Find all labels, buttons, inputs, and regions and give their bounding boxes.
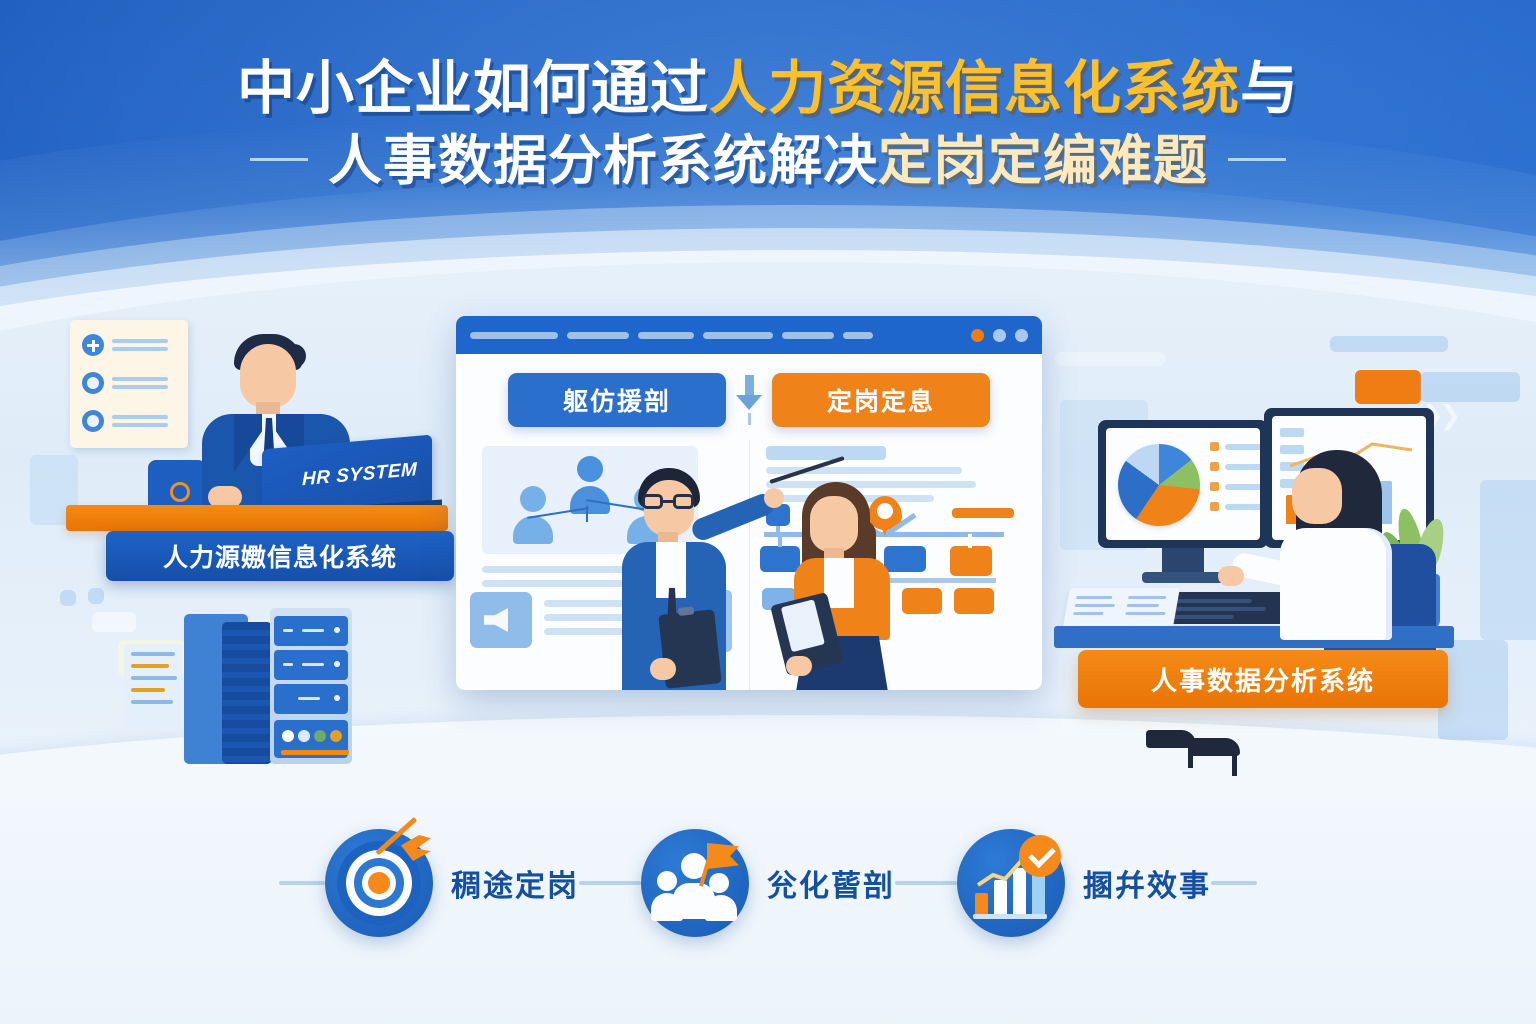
avatar-presenter-male <box>608 462 768 690</box>
server-status-leds <box>274 720 348 758</box>
feature-item-1-label: 稠途定岗 <box>451 861 579 905</box>
feature-row: 稠途定岗 兊化蒈剖 <box>0 818 1536 948</box>
title-line-1: 中小企业如何通过人力资源信息化系统与 <box>0 58 1536 119</box>
left-scene-hr-system: HR SYSTEM 人力源嫐信息化系统 <box>44 300 474 800</box>
connector-dash-1 <box>579 881 641 885</box>
window-dot-blue-2[interactable] <box>1015 329 1028 342</box>
feature-item-3[interactable]: 㨡幷效事 <box>957 829 1211 937</box>
shoes <box>1146 730 1256 770</box>
head <box>810 496 858 552</box>
hand-on-keyboard <box>1218 566 1244 586</box>
monitor-stand-base <box>1142 572 1226 583</box>
arrow-down-icon <box>736 375 762 425</box>
connector-dash-trail <box>1211 881 1257 885</box>
label-hr-information-system[interactable]: 人力源嫐信息化系统 <box>106 531 454 581</box>
badge-target-state-text: 定岗定息 <box>827 382 935 418</box>
avatar-data-analyst <box>1274 450 1422 650</box>
title-segment-white-2: 人事数据分析系统解决 <box>328 131 878 191</box>
head <box>1292 468 1342 524</box>
server-info-card <box>124 644 182 728</box>
plus-circle-icon <box>82 334 104 356</box>
monitor-primary <box>1098 420 1268 548</box>
growth-chart-check-icon <box>957 829 1065 937</box>
server-rack-front <box>270 608 352 764</box>
badge-current-state-text: 躯仿援剖 <box>563 382 671 418</box>
glasses-icon <box>642 494 698 510</box>
transformation-badges: 躯仿援剖 定岗定息 <box>456 368 1042 432</box>
title-segment-cream: 定岗定编难题 <box>878 131 1208 191</box>
title-rule-right <box>1228 158 1286 161</box>
doc-lines <box>112 415 168 427</box>
window-dot-orange[interactable] <box>971 329 984 342</box>
connector-dash-lead <box>279 881 325 885</box>
pie-chart <box>1118 444 1200 526</box>
head <box>240 344 296 408</box>
title-segment-white: 中小企业如何通过 <box>237 56 709 121</box>
infographic-canvas: ❯❯ 中小企业如何通过人力资源信息化系统与 人事数据分析系统解决定岗定编难题 <box>0 0 1536 1024</box>
monitor-stand-neck <box>1162 548 1204 574</box>
right-scene-data-analytics: 人事数据分析系统 <box>1062 300 1512 780</box>
browser-content: 躯仿援剖 定岗定息 <box>456 354 1042 690</box>
window-dot-blue-1[interactable] <box>993 329 1006 342</box>
doc-lines <box>112 377 168 389</box>
server-racks <box>112 600 392 780</box>
feature-item-2-label: 兊化蒈剖 <box>767 861 895 905</box>
checklist-document <box>70 320 188 448</box>
browser-mockup-panel[interactable]: 躯仿援剖 定岗定息 <box>456 316 1042 690</box>
connector-dash-2 <box>895 881 957 885</box>
pie-chart-legend <box>1210 442 1260 522</box>
desk-surface <box>66 505 448 531</box>
people-group-icon <box>641 829 749 937</box>
page-title: 中小企业如何通过人力资源信息化系统与 人事数据分析系统解决定岗定编难题 <box>0 58 1536 191</box>
hand-holding-clipboard <box>650 658 676 680</box>
label-hr-data-analysis-system-text: 人事数据分析系统 <box>1151 661 1375 698</box>
target-icon <box>325 829 433 937</box>
server-rack-middle <box>222 622 272 764</box>
circle-icon <box>82 372 104 394</box>
doc-lines <box>112 339 168 351</box>
badge-target-state[interactable]: 定岗定息 <box>772 373 990 427</box>
label-hr-data-analysis-system[interactable]: 人事数据分析系统 <box>1078 650 1448 708</box>
title-rule-left <box>250 158 308 161</box>
label-hr-information-system-text: 人力源嫐信息化系统 <box>163 538 397 574</box>
badge-current-state[interactable]: 躯仿援剖 <box>508 373 726 427</box>
circle-icon <box>82 410 104 432</box>
feature-item-1[interactable]: 稠途定岗 <box>325 829 579 937</box>
hand <box>786 656 812 676</box>
monitor-primary-screen <box>1106 428 1260 540</box>
title-segment-highlight: 人力资源信息化系统 <box>709 56 1240 121</box>
announcement-icon <box>470 592 532 648</box>
title-line-2: 人事数据分析系统解决定岗定编难题 <box>0 133 1536 190</box>
title-segment-conjunction: 与 <box>1240 56 1299 121</box>
feature-item-2[interactable]: 兊化蒈剖 <box>641 829 895 937</box>
avatar-hr-analyst-female <box>780 480 920 690</box>
check-badge-icon <box>1019 835 1061 877</box>
browser-title-bar <box>456 316 1042 354</box>
feature-item-3-label: 㨡幷效事 <box>1083 861 1211 905</box>
